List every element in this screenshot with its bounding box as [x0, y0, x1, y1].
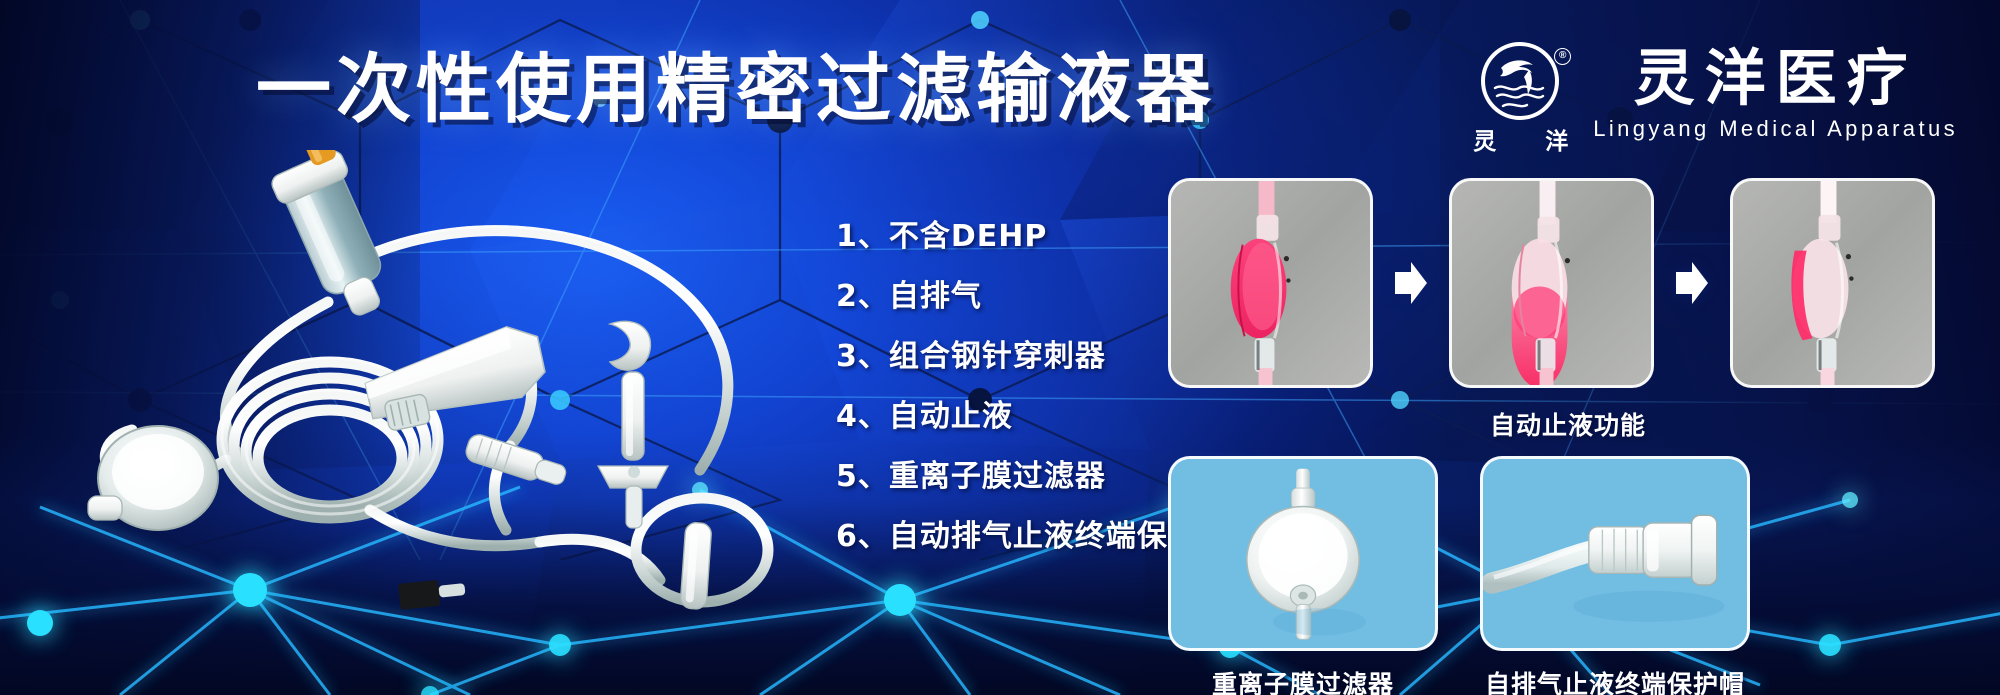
emblem-circle: [1481, 42, 1559, 120]
auto-stop-photo-stage-3: [1730, 178, 1935, 388]
auto-stop-photo-stage-2: [1449, 178, 1654, 388]
auto-stop-photo-stage-1: [1168, 178, 1373, 388]
product-banner: 一次性使用精密过滤输液器 ®: [0, 0, 2000, 695]
vent-stop-end-cap-caption: 自排气止液终端保护帽: [1480, 665, 1750, 695]
arrow-right-icon-2: [1674, 260, 1710, 306]
emblem-caption: 灵 洋: [1473, 122, 1569, 156]
lingyang-emblem-icon: ® 灵 洋: [1473, 40, 1569, 152]
heavy-ion-filter-photo: [1168, 456, 1438, 651]
arrow-right-icon-1: [1393, 260, 1429, 306]
auto-stop-caption: 自动止液功能: [1168, 406, 1968, 442]
company-name-block: 灵洋医疗 Lingyang Medical Apparatus: [1593, 46, 1958, 142]
page-title: 一次性使用精密过滤输液器: [256, 48, 1216, 130]
auto-stop-sequence-row: [1168, 178, 1968, 388]
company-name-cn: 灵洋医疗: [1634, 46, 1918, 112]
component-photo-row: [1168, 456, 1968, 651]
component-caption-row: 重离子膜过滤器 自排气止液终端保护帽: [1168, 665, 1968, 695]
iv-infusion-set-photo: [40, 150, 800, 620]
vent-stop-end-cap-photo: [1480, 456, 1750, 651]
wave-bird-glyph: [1485, 46, 1555, 116]
emblem-caption-right: 洋: [1545, 122, 1569, 156]
heavy-ion-filter-caption: 重离子膜过滤器: [1168, 665, 1438, 695]
registered-trademark-icon: ®: [1554, 48, 1571, 65]
company-name-en: Lingyang Medical Apparatus: [1593, 116, 1958, 142]
company-logo: ® 灵 洋 灵洋医疗 Lingyang Medical Apparatus: [1473, 40, 1958, 152]
emblem-caption-left: 灵: [1473, 122, 1497, 156]
demo-panel-group: 自动止液功能: [1168, 178, 1968, 695]
